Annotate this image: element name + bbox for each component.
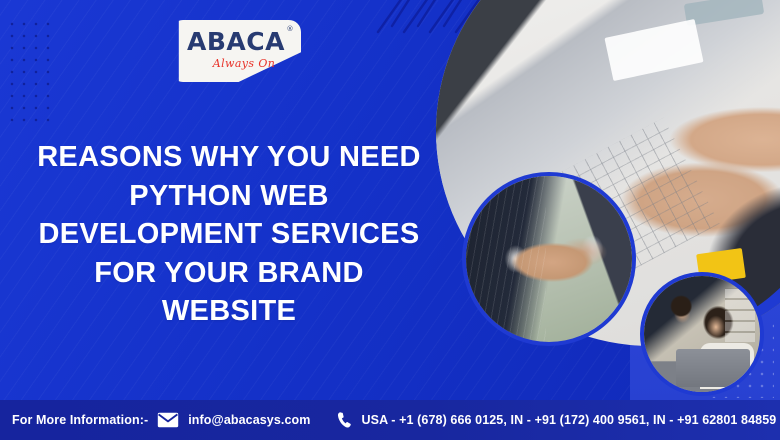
dot-grid-icon (6, 18, 52, 126)
handshake-scene (466, 176, 632, 342)
logo-tagline: Always On (213, 58, 276, 69)
logo-wordmark: ABACA ® (187, 29, 285, 54)
desk-object (604, 19, 703, 81)
logo-wordmark-text: ABACA (187, 27, 285, 56)
desk-object (684, 0, 764, 26)
office-window (725, 288, 755, 342)
laptop-shape (676, 349, 750, 387)
logo-content: ABACA ® Always On (171, 20, 301, 82)
contact-label: For More Information:- (12, 413, 148, 427)
team-scene (644, 276, 760, 392)
envelope-icon (157, 412, 179, 428)
photo-businessmen-handshake (462, 172, 636, 346)
promotional-banner: ABACA ® Always On Reasons Why You Need P… (0, 0, 780, 440)
contact-email[interactable]: info@abacasys.com (188, 413, 310, 427)
photo-team-at-laptop (640, 272, 764, 396)
page-title: Reasons Why You Need Python Web Developm… (14, 138, 444, 331)
contact-footer-bar: For More Information:- info@abacasys.com… (0, 400, 780, 440)
phone-handset-icon (337, 411, 353, 429)
contact-phone-numbers[interactable]: USA - +1 (678) 666 0125, IN - +91 (172) … (362, 413, 777, 427)
suit-pinstripes (466, 176, 546, 342)
registered-trademark-icon: ® (286, 26, 294, 33)
abaca-logo[interactable]: ABACA ® Always On (171, 20, 301, 82)
